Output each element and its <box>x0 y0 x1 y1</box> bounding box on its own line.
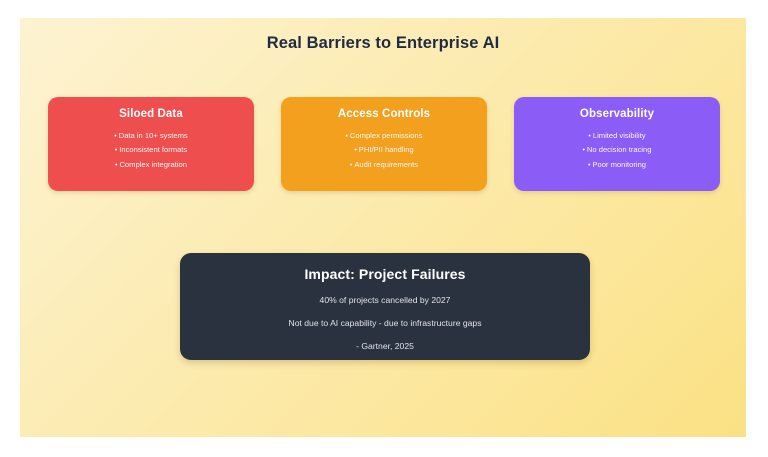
list-item: •PHI/PII handling <box>291 143 477 157</box>
list-item: •Poor monitoring <box>524 158 710 172</box>
list-item-label: Complex integration <box>119 160 187 169</box>
slide-canvas: Real Barriers to Enterprise AI Siloed Da… <box>20 18 746 437</box>
barrier-card-bullet-list: •Data in 10+ systems •Inconsistent forma… <box>58 129 244 172</box>
barrier-card-access-controls[interactable]: Access Controls •Complex permissions •PH… <box>281 97 487 191</box>
impact-panel[interactable]: Impact: Project Failures 40% of projects… <box>180 253 590 360</box>
list-item-label: Limited visibility <box>593 131 646 140</box>
bullet-dot-icon: • <box>114 133 116 140</box>
bullet-dot-icon: • <box>350 162 352 169</box>
list-item-label: Data in 10+ systems <box>119 131 188 140</box>
page-title: Real Barriers to Enterprise AI <box>20 34 746 53</box>
barrier-card-bullet-list: •Complex permissions •PHI/PII handling •… <box>291 129 477 172</box>
barrier-card-siloed-data[interactable]: Siloed Data •Data in 10+ systems •Incons… <box>48 97 254 191</box>
bullet-dot-icon: • <box>115 147 117 154</box>
list-item: •Audit requirements <box>291 158 477 172</box>
list-item: •Complex integration <box>58 158 244 172</box>
list-item: •No decision tracing <box>524 143 710 157</box>
list-item-label: Complex permissions <box>350 131 423 140</box>
list-item: •Limited visibility <box>524 129 710 143</box>
list-item-label: Audit requirements <box>354 160 418 169</box>
impact-stat-line: 40% of projects cancelled by 2027 <box>320 294 451 307</box>
list-item: •Data in 10+ systems <box>58 129 244 143</box>
bullet-dot-icon: • <box>354 147 356 154</box>
bullet-dot-icon: • <box>582 147 584 154</box>
barrier-cards-row: Siloed Data •Data in 10+ systems •Incons… <box>48 97 720 191</box>
barrier-card-title: Access Controls <box>338 108 430 120</box>
list-item-label: PHI/PII handling <box>359 145 414 154</box>
bullet-dot-icon: • <box>115 162 117 169</box>
bullet-dot-icon: • <box>588 133 590 140</box>
barrier-card-observability[interactable]: Observability •Limited visibility •No de… <box>514 97 720 191</box>
list-item-label: No decision tracing <box>587 145 652 154</box>
barrier-card-title: Siloed Data <box>119 108 183 120</box>
list-item: •Inconsistent formats <box>58 143 244 157</box>
barrier-card-title: Observability <box>580 108 654 120</box>
list-item-label: Poor monitoring <box>592 160 646 169</box>
list-item: •Complex permissions <box>291 129 477 143</box>
impact-source-line: - Gartner, 2025 <box>356 340 414 353</box>
impact-detail-line: Not due to AI capability - due to infras… <box>289 317 482 330</box>
barrier-card-bullet-list: •Limited visibility •No decision tracing… <box>524 129 710 172</box>
bullet-dot-icon: • <box>588 162 590 169</box>
list-item-label: Inconsistent formats <box>119 145 187 154</box>
bullet-dot-icon: • <box>345 133 347 140</box>
impact-panel-title: Impact: Project Failures <box>304 266 465 282</box>
